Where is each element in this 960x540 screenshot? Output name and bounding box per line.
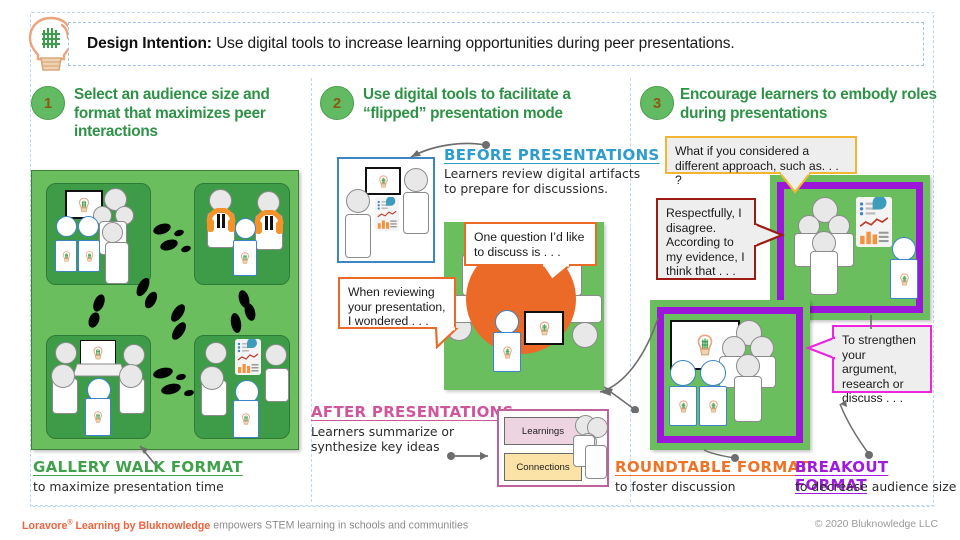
person-body [585, 445, 607, 479]
gallery-walk-diagram [31, 170, 299, 450]
design-intention-label: Design Intention: [87, 35, 212, 52]
bubble-disagree-tail [754, 222, 786, 250]
person-head [670, 360, 696, 386]
person-head [736, 354, 760, 378]
step-number-1: 1 [31, 86, 65, 120]
cross-column-connector [596, 300, 666, 396]
footer-brand-line: Loravore® Learning by Bluknowledge empow… [22, 519, 468, 532]
person-head [892, 237, 916, 261]
bubble-when-reviewing: When reviewing your presentation, I wond… [338, 277, 456, 329]
footer-divider [30, 505, 934, 506]
before-presentation-scene [337, 157, 435, 263]
person-body [734, 376, 762, 422]
person-body [403, 192, 429, 234]
person-head [404, 168, 428, 192]
breakout-format-subtitle: to decrease audience size [795, 479, 960, 494]
person-head [572, 322, 598, 348]
gallery-walk-format-subtitle: to maximize presentation time [33, 479, 263, 494]
bubble-what-if-tail [778, 172, 814, 194]
before-presentations-subtitle: Learners review digital artifacts to pre… [444, 166, 644, 196]
bubble-what-if-approach: What if you considered a different appro… [665, 136, 857, 174]
footer-brand-rest: Learning by Bluknowledge [73, 520, 211, 532]
after-presentations-connector [446, 448, 498, 464]
column-divider-2 [630, 78, 631, 502]
wall-screen-icon [524, 311, 564, 345]
breakout-pointer-lower [702, 448, 742, 464]
footer-copyright: © 2020 Bluknowledge LLC [815, 519, 938, 530]
column-title-3: Encourage learners to embody roles durin… [680, 86, 942, 123]
breakout-pointer-upper [836, 398, 876, 460]
person-head [495, 310, 519, 334]
chip-connections: Connections [504, 453, 582, 481]
after-presentations-title: AFTER PRESENTATIONS [311, 403, 514, 421]
breakout-room-lower [650, 300, 810, 450]
infographic-canvas: Design Intention: Use digital tools to i… [0, 0, 960, 540]
design-intention-banner: Design Intention: Use digital tools to i… [68, 22, 924, 66]
design-intention-body: Use digital tools to increase learning o… [212, 35, 735, 52]
after-presentations-board: Learnings Connections [497, 409, 609, 487]
person-body [810, 251, 838, 295]
column-title-2: Use digital tools to facilitate a “flipp… [363, 86, 613, 123]
person-head [700, 360, 726, 386]
step-number-2: 2 [320, 86, 354, 120]
footprint-trail [32, 171, 300, 451]
tablet-icon [890, 259, 918, 299]
bubble-one-question-tail [540, 264, 574, 282]
step-number-3: 3 [640, 86, 674, 120]
column-title-1: Select an audience size and format that … [74, 86, 299, 142]
breakout-purple-frame [777, 182, 923, 313]
bubble-respectfully-disagree: Respectfully, I disagree. According to m… [656, 198, 756, 280]
chip-learnings: Learnings [504, 417, 582, 445]
footer-tagline: empowers STEM learning in schools and co… [210, 520, 468, 532]
tablet-icon [699, 386, 727, 426]
tablet-icon [669, 386, 697, 426]
bubble-to-strengthen: To strengthen your argument, research or… [832, 325, 932, 393]
bubble-one-question: One question I’d like to discuss is . . … [464, 222, 597, 266]
bubble-when-reviewing-tail [435, 327, 465, 349]
breakout-room-upper [770, 175, 930, 320]
tablet-icon [493, 332, 521, 372]
design-intention-text: Design Intention: Use digital tools to i… [87, 35, 735, 53]
chart-poster-icon [375, 197, 399, 231]
gallery-walk-format-title: GALLERY WALK FORMAT [33, 458, 243, 476]
person-head [346, 189, 370, 213]
footer-brand: Loravore [22, 520, 67, 532]
chart-poster-icon [856, 197, 892, 247]
bubble-strengthen-tail [806, 336, 836, 362]
person-body [345, 214, 371, 258]
before-presentations-title: BEFORE PRESENTATIONS [444, 146, 660, 164]
wall-screen-icon [365, 167, 401, 195]
roundtable-format-subtitle: to foster discussion [615, 479, 775, 494]
strengthen-connector-line [868, 315, 874, 329]
breakout-purple-frame [657, 307, 803, 443]
